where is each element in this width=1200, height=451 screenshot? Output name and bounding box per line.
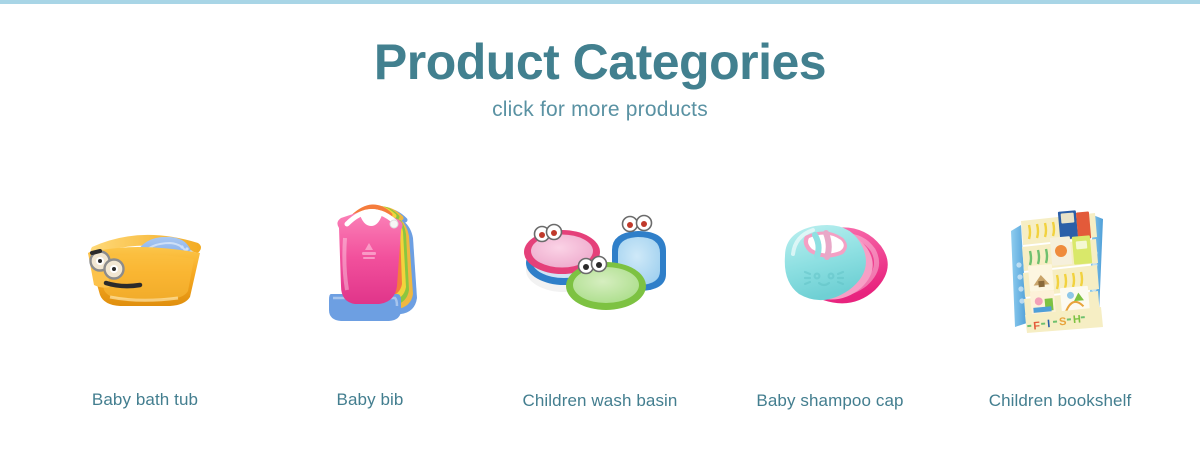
page-subtitle: click for more products: [0, 98, 1200, 122]
category-item-baby-bath-tub[interactable]: Baby bath tub: [49, 168, 241, 410]
category-list: Baby bath tub: [0, 168, 1200, 418]
category-label[interactable]: Baby shampoo cap: [734, 391, 926, 411]
category-circle-frame[interactable]: [49, 168, 241, 360]
category-label[interactable]: Baby bib: [274, 390, 466, 410]
top-divider-rule: [0, 0, 1200, 4]
category-image-wrap: [746, 182, 914, 350]
children-bookshelf-icon: F I S H: [1001, 203, 1119, 333]
children-wash-basin-icon: [520, 206, 680, 326]
svg-text:S: S: [1059, 316, 1067, 329]
baby-bib-icon: [305, 194, 435, 334]
category-label[interactable]: Children wash basin: [504, 391, 696, 411]
category-item-children-wash-basin[interactable]: Children wash basin: [504, 170, 696, 411]
category-circle-frame[interactable]: [734, 170, 926, 362]
category-label[interactable]: Baby bath tub: [49, 390, 241, 410]
category-item-children-bookshelf[interactable]: F I S H Children bookshelf: [964, 172, 1156, 411]
category-label[interactable]: Children bookshelf: [964, 391, 1156, 411]
page-title: Product Categories: [0, 34, 1200, 90]
svg-text:F: F: [1033, 320, 1041, 333]
category-image-wrap: [516, 182, 684, 350]
category-item-baby-bib[interactable]: Baby bib: [274, 168, 466, 410]
category-image-wrap: F I S H: [976, 184, 1144, 352]
category-circle-frame[interactable]: F I S H: [964, 172, 1156, 364]
page-header: Product Categories click for more produc…: [0, 34, 1200, 122]
baby-bath-tub-icon: [70, 209, 220, 319]
baby-shampoo-cap-icon: [755, 206, 905, 326]
category-image-wrap: [286, 180, 454, 348]
svg-text:H: H: [1072, 313, 1081, 326]
category-circle-frame[interactable]: [504, 170, 696, 362]
category-circle-frame[interactable]: [274, 168, 466, 360]
category-image-wrap: [61, 180, 229, 348]
category-item-baby-shampoo-cap[interactable]: Baby shampoo cap: [734, 170, 926, 411]
